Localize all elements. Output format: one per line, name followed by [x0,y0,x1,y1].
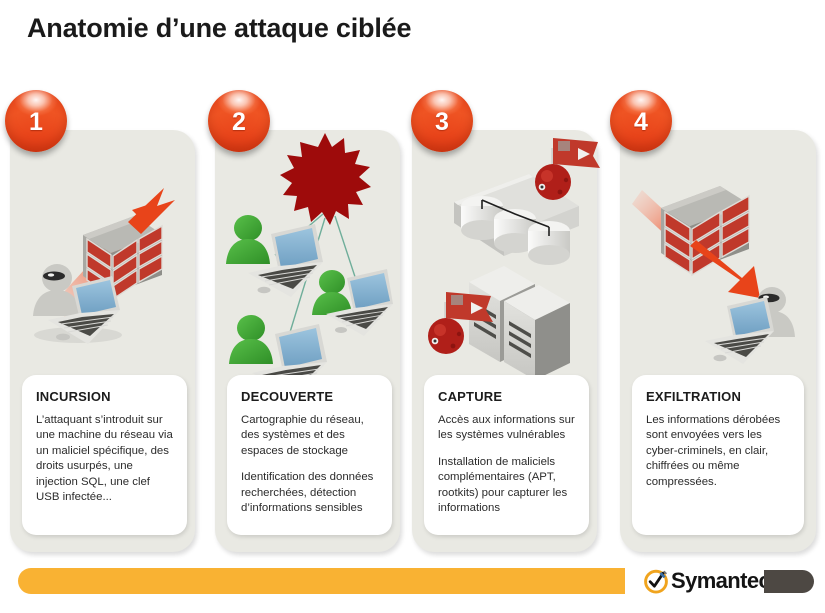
step-number-1: 1 [29,110,43,135]
symantec-check-icon [643,568,669,594]
step-text-card-1: INCURSION L’attaquant s’introduit sur un… [22,375,187,535]
step-heading-3: CAPTURE [438,389,576,404]
symantec-logo: Symantec . [643,566,774,596]
step-paragraph-1-1: L’attaquant s’introduit sur une machine … [36,413,174,505]
step-text-card-4: EXFILTRATION Les informations dérobées s… [632,375,804,535]
step-number-badge-4: 4 [610,90,672,152]
step-paragraph-4-1: Les informations dérobées sont envoyées … [646,413,791,490]
step-number-badge-2: 2 [208,90,270,152]
step-paragraph-3-1: Accès aux informations sur les systèmes … [438,413,576,444]
step-number-4: 4 [634,110,648,135]
step-paragraph-3-2: Installation de maliciels complémentaire… [438,455,576,517]
page-title: Anatomie d’une attaque ciblée [27,13,411,44]
step-heading-1: INCURSION [36,389,174,404]
step-number-2: 2 [232,110,246,135]
step-number-badge-1: 1 [5,90,67,152]
step-paragraph-2-2: Identification des données recherchées, … [241,470,379,516]
step-heading-2: DECOUVERTE [241,389,379,404]
step-text-card-3: CAPTURE Accès aux informations sur les s… [424,375,589,535]
step-number-badge-3: 3 [411,90,473,152]
step-paragraph-2-1: Cartographie du réseau, des systèmes et … [241,413,379,459]
step-number-3: 3 [435,110,449,135]
symantec-wordmark: Symantec [671,570,770,592]
step-text-card-2: DECOUVERTE Cartographie du réseau, des s… [227,375,392,535]
footer-gray-block [764,570,814,593]
footer-accent-bar [18,568,625,594]
step-heading-4: EXFILTRATION [646,389,791,404]
